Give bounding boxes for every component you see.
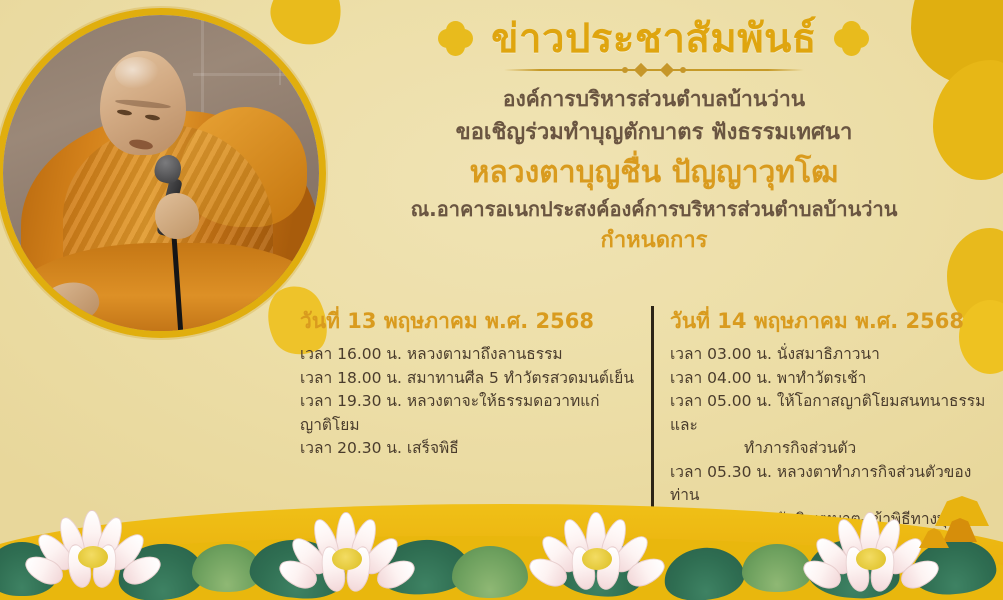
lotus-flower xyxy=(538,514,658,592)
rule-dot-icon xyxy=(680,67,686,73)
schedule-item: เวลา 18.00 น. สมาทานศีล 5 ทำวัตรสวดมนต์เ… xyxy=(300,367,636,391)
flower-ornament-icon xyxy=(439,22,473,56)
lotus-decoration-band xyxy=(0,488,1003,600)
poster-canvas: ข่าวประชาสัมพันธ์ องค์การบริหารส่วนตำบลบ… xyxy=(0,0,1003,600)
head-highlight xyxy=(115,57,159,89)
schedule-item-main: เวลา 04.00 น. พาทำวัตรเช้า xyxy=(670,369,866,387)
schedule-item: เวลา 05.00 น. ให้โอกาสญาติโยมสนทนาธรรมแล… xyxy=(670,390,1000,461)
schedule-item: เวลา 20.30 น. เสร็จพิธี xyxy=(300,437,636,461)
schedule-item-main: เวลา 03.00 น. นั่งสมาธิภาวนา xyxy=(670,345,880,363)
rule-bar xyxy=(504,69,804,71)
decorative-rule xyxy=(504,63,804,77)
agenda-heading: กำหนดการ xyxy=(318,224,990,257)
flower-ornament-icon xyxy=(835,22,869,56)
title-row: ข่าวประชาสัมพันธ์ xyxy=(318,18,990,60)
wall-seam xyxy=(279,15,281,85)
lotus-center xyxy=(78,546,108,568)
schedule-item: เวลา 03.00 น. นั่งสมาธิภาวนา xyxy=(670,343,1000,367)
day2-heading: วันที่ 14 พฤษภาคม พ.ศ. 2568 xyxy=(670,305,1000,338)
lotus-flower xyxy=(288,516,408,594)
lotus-center xyxy=(856,548,886,570)
lotus-center xyxy=(332,548,362,570)
schedule-item-main: เวลา 16.00 น. หลวงตามาถึงลานธรรม xyxy=(300,345,563,363)
wall-seam xyxy=(193,73,326,76)
day1-heading: วันที่ 13 พฤษภาคม พ.ศ. 2568 xyxy=(300,305,636,338)
schedule-item: เวลา 04.00 น. พาทำวัตรเช้า xyxy=(670,367,1000,391)
rule-diamond-icon xyxy=(660,63,674,77)
lotus-center xyxy=(582,548,612,570)
monk-name: หลวงตาบุญชื่น ปัญญาวุทโฒ xyxy=(318,152,990,194)
schedule-item: เวลา 16.00 น. หลวงตามาถึงลานธรรม xyxy=(300,343,636,367)
schedule-item-main: เวลา 18.00 น. สมาทานศีล 5 ทำวัตรสวดมนต์เ… xyxy=(300,369,634,387)
schedule-item-continuation: ทำภารกิจส่วนตัว xyxy=(670,437,1000,461)
schedule-item-main: เวลา 19.30 น. หลวงตาจะให้ธรรมดอวาทแก่ญาต… xyxy=(300,392,600,434)
rule-dot-icon xyxy=(622,67,628,73)
invitation-line: ขอเชิญร่วมทำบุญตักบาตร ฟังธรรมเทศนา xyxy=(318,116,990,150)
schedule-item-main: เวลา 20.30 น. เสร็จพิธี xyxy=(300,439,459,457)
venue-line: ณ.อาคารอเนกประสงค์องค์การบริหารส่วนตำบลบ… xyxy=(318,194,990,224)
poster-header: ข่าวประชาสัมพันธ์ องค์การบริหารส่วนตำบลบ… xyxy=(318,18,990,257)
thai-pattern-icon xyxy=(903,488,993,548)
monk-photo xyxy=(3,15,319,331)
schedule-item-main: เวลา 05.00 น. ให้โอกาสญาติโยมสนทนาธรรมแล… xyxy=(670,392,985,434)
monk-photo-frame xyxy=(0,8,326,338)
lotus-flower xyxy=(34,512,154,590)
organization-line: องค์การบริหารส่วนตำบลบ้านว่าน xyxy=(318,83,990,116)
motif-shape xyxy=(919,528,949,548)
page-title: ข่าวประชาสัมพันธ์ xyxy=(491,18,817,60)
schedule-item: เวลา 19.30 น. หลวงตาจะให้ธรรมดอวาทแก่ญาต… xyxy=(300,390,636,437)
rule-diamond-icon xyxy=(634,63,648,77)
